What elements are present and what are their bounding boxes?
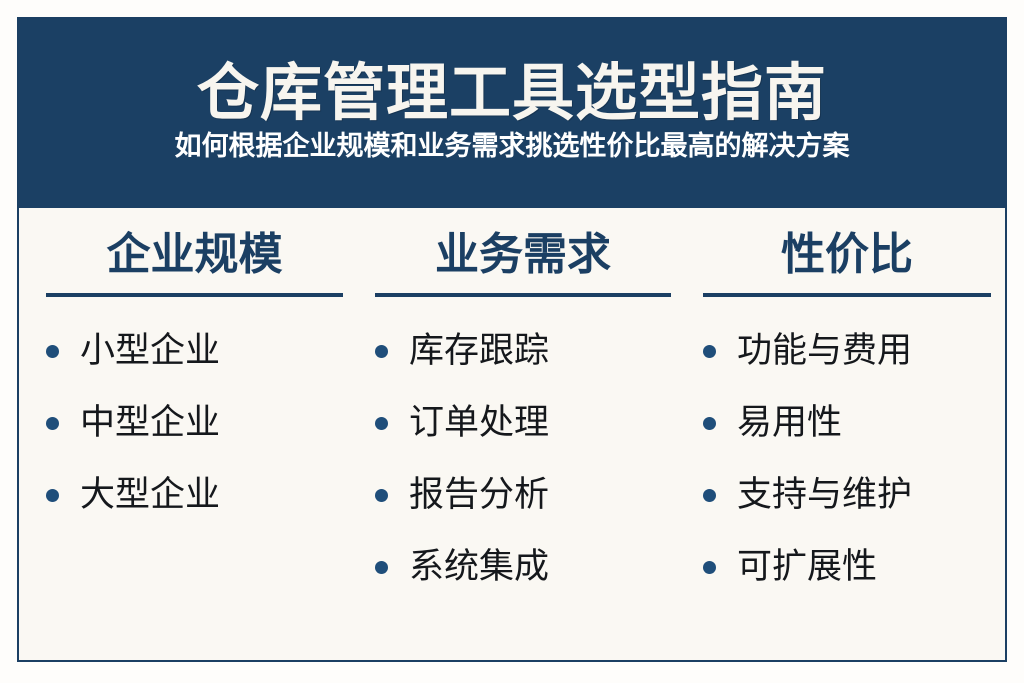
bullet-dot-icon: [703, 561, 716, 574]
bullet-dot-icon: [46, 417, 59, 430]
list-item: 系统集成: [375, 531, 671, 603]
column-heading-rule: [375, 293, 671, 297]
bullet-dot-icon: [46, 345, 59, 358]
item-list: 功能与费用 易用性 支持与维护 可扩展性: [703, 315, 991, 603]
infographic-card: 仓库管理工具选型指南 如何根据企业规模和业务需求挑选性价比最高的解决方案 企业规…: [17, 17, 1007, 662]
page-subtitle: 如何根据企业规模和业务需求挑选性价比最高的解决方案: [175, 132, 850, 162]
list-item-label: 易用性: [737, 404, 842, 443]
column-heading: 业务需求: [375, 230, 671, 279]
item-list: 库存跟踪 订单处理 报告分析 系统集成: [375, 315, 671, 603]
list-item: 中型企业: [46, 387, 343, 459]
bullet-dot-icon: [375, 561, 388, 574]
list-item-label: 支持与维护: [737, 476, 912, 515]
list-item: 小型企业: [46, 315, 343, 387]
list-item: 支持与维护: [703, 459, 991, 531]
list-item-label: 订单处理: [409, 404, 549, 443]
column-heading-rule: [46, 293, 343, 297]
list-item-label: 报告分析: [409, 476, 549, 515]
column-enterprise-size: 企业规模 小型企业 中型企业 大型企业: [19, 230, 356, 660]
bullet-dot-icon: [375, 345, 388, 358]
list-item: 库存跟踪: [375, 315, 671, 387]
list-item-label: 可扩展性: [737, 548, 877, 587]
list-item-label: 中型企业: [80, 404, 220, 443]
list-item-label: 系统集成: [409, 548, 549, 587]
bullet-dot-icon: [703, 489, 716, 502]
column-heading: 企业规模: [46, 230, 343, 279]
column-heading-rule: [703, 293, 991, 297]
list-item: 易用性: [703, 387, 991, 459]
page-title: 仓库管理工具选型指南: [197, 61, 827, 126]
header-band: 仓库管理工具选型指南 如何根据企业规模和业务需求挑选性价比最高的解决方案: [19, 19, 1005, 208]
column-business-needs: 业务需求 库存跟踪 订单处理 报告分析 系统集成: [356, 230, 684, 660]
column-heading: 性价比: [703, 230, 991, 279]
bullet-dot-icon: [46, 489, 59, 502]
item-list: 小型企业 中型企业 大型企业: [46, 315, 343, 531]
columns-container: 企业规模 小型企业 中型企业 大型企业 业务需求: [19, 208, 1005, 660]
list-item-label: 小型企业: [80, 332, 220, 371]
column-cost-effectiveness: 性价比 功能与费用 易用性 支持与维护 可扩展性: [684, 230, 1005, 660]
list-item: 可扩展性: [703, 531, 991, 603]
list-item: 功能与费用: [703, 315, 991, 387]
list-item: 报告分析: [375, 459, 671, 531]
list-item-label: 功能与费用: [737, 332, 912, 371]
list-item: 订单处理: [375, 387, 671, 459]
bullet-dot-icon: [375, 417, 388, 430]
bullet-dot-icon: [375, 489, 388, 502]
bullet-dot-icon: [703, 417, 716, 430]
bullet-dot-icon: [703, 345, 716, 358]
list-item-label: 库存跟踪: [409, 332, 549, 371]
list-item-label: 大型企业: [80, 476, 220, 515]
list-item: 大型企业: [46, 459, 343, 531]
